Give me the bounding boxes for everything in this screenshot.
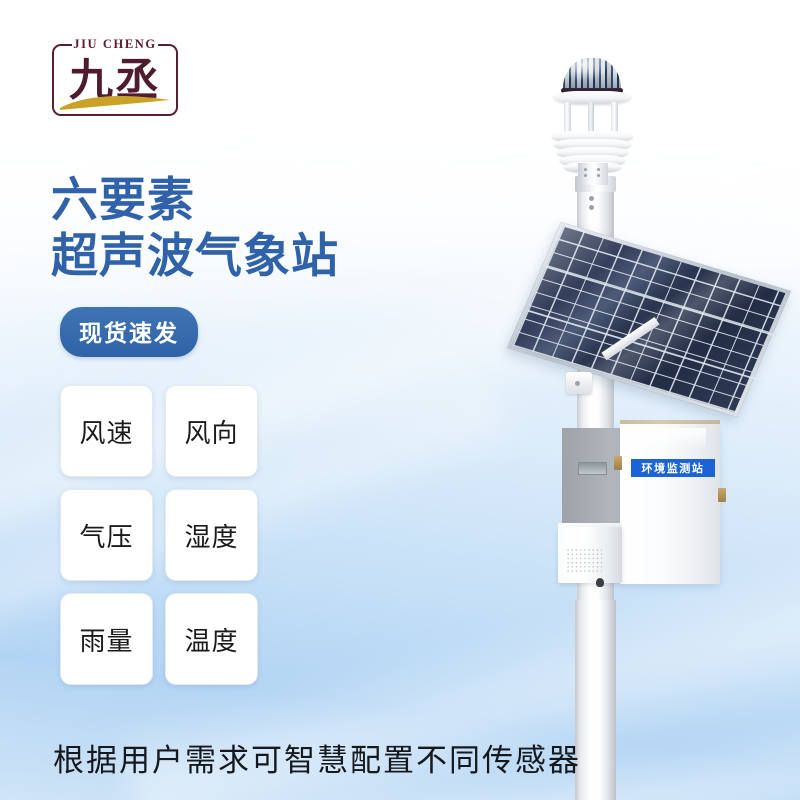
sensor-screw bbox=[589, 196, 594, 201]
feature-card-rainfall: 雨量 bbox=[60, 593, 153, 685]
dome-base-plate bbox=[554, 91, 631, 104]
cabinet-top-edge bbox=[620, 420, 720, 426]
junction-box-top bbox=[558, 523, 622, 529]
feature-grid: 风速 风向 气压 湿度 雨量 温度 bbox=[60, 385, 258, 685]
ultrasonic-dome-icon bbox=[563, 58, 621, 92]
sensor-post bbox=[611, 102, 618, 134]
cabinet-highlight bbox=[622, 428, 706, 450]
page-title: 六要素 超声波气象站 bbox=[51, 172, 339, 284]
radiation-shield-plate bbox=[560, 155, 625, 166]
solar-panel-frame-edge bbox=[507, 230, 791, 425]
feature-card-wind-direction: 风向 bbox=[165, 385, 258, 477]
radiation-shield-plate bbox=[557, 147, 628, 158]
solar-panel-busbar bbox=[527, 310, 758, 381]
clamp-bolt bbox=[575, 381, 580, 386]
footer-caption: 根据用户需求可智慧配置不同传感器 bbox=[53, 735, 581, 780]
sensor-screw bbox=[584, 174, 587, 177]
sensor-body bbox=[578, 163, 608, 185]
radiation-shield-plate bbox=[552, 131, 633, 142]
radiation-shield-plate bbox=[554, 139, 631, 150]
cabinet-latch bbox=[614, 543, 622, 557]
solar-panel-cells bbox=[507, 222, 791, 417]
title-line-2: 超声波气象站 bbox=[51, 228, 339, 284]
cabinet-label: 环境监测站 bbox=[631, 459, 715, 477]
sensor-screw bbox=[584, 168, 587, 171]
feature-card-humidity: 湿度 bbox=[165, 489, 258, 581]
cabinet-vent bbox=[578, 462, 607, 475]
product-poster: 环境监测站 JIU CHENG 九丞 六要素 超声波气象站 现货速发 风速 风向… bbox=[0, 0, 800, 800]
feature-card-temperature: 温度 bbox=[165, 593, 258, 685]
dome-shading bbox=[563, 58, 621, 92]
control-cabinet bbox=[620, 424, 720, 584]
solar-panel-bracket bbox=[601, 317, 659, 360]
cabinet-latch bbox=[718, 488, 726, 502]
radiation-shield-plate bbox=[564, 162, 621, 172]
cable-gland bbox=[596, 578, 604, 587]
title-line-1: 六要素 bbox=[51, 172, 339, 228]
feature-card-wind-speed: 风速 bbox=[60, 385, 153, 477]
pole-clamp bbox=[566, 372, 592, 394]
sensor-screw bbox=[597, 174, 600, 177]
mounting-pole-lower bbox=[575, 600, 616, 800]
solar-panel-busbar bbox=[546, 266, 777, 337]
status-badge: 现货速发 bbox=[60, 307, 198, 357]
dome-rim bbox=[561, 88, 623, 93]
brand-logo: JIU CHENG 九丞 bbox=[52, 44, 178, 116]
cabinet-latch bbox=[614, 456, 622, 470]
junction-box-grill bbox=[566, 548, 602, 572]
sensor-post bbox=[588, 102, 594, 134]
sensor-screw bbox=[597, 168, 600, 171]
pole-collar bbox=[575, 176, 616, 192]
solar-panel-gloss bbox=[512, 227, 785, 413]
logo-swoosh-icon bbox=[58, 91, 172, 111]
feature-card-air-pressure: 气压 bbox=[60, 489, 153, 581]
mounting-pole bbox=[577, 176, 614, 800]
cabinet-side-panel bbox=[562, 428, 620, 579]
logo-english-name: JIU CHENG bbox=[52, 37, 178, 52]
sensor-screw bbox=[589, 205, 594, 210]
solar-panel bbox=[561, 222, 797, 398]
junction-box bbox=[558, 527, 622, 583]
sensor-post bbox=[564, 102, 571, 134]
